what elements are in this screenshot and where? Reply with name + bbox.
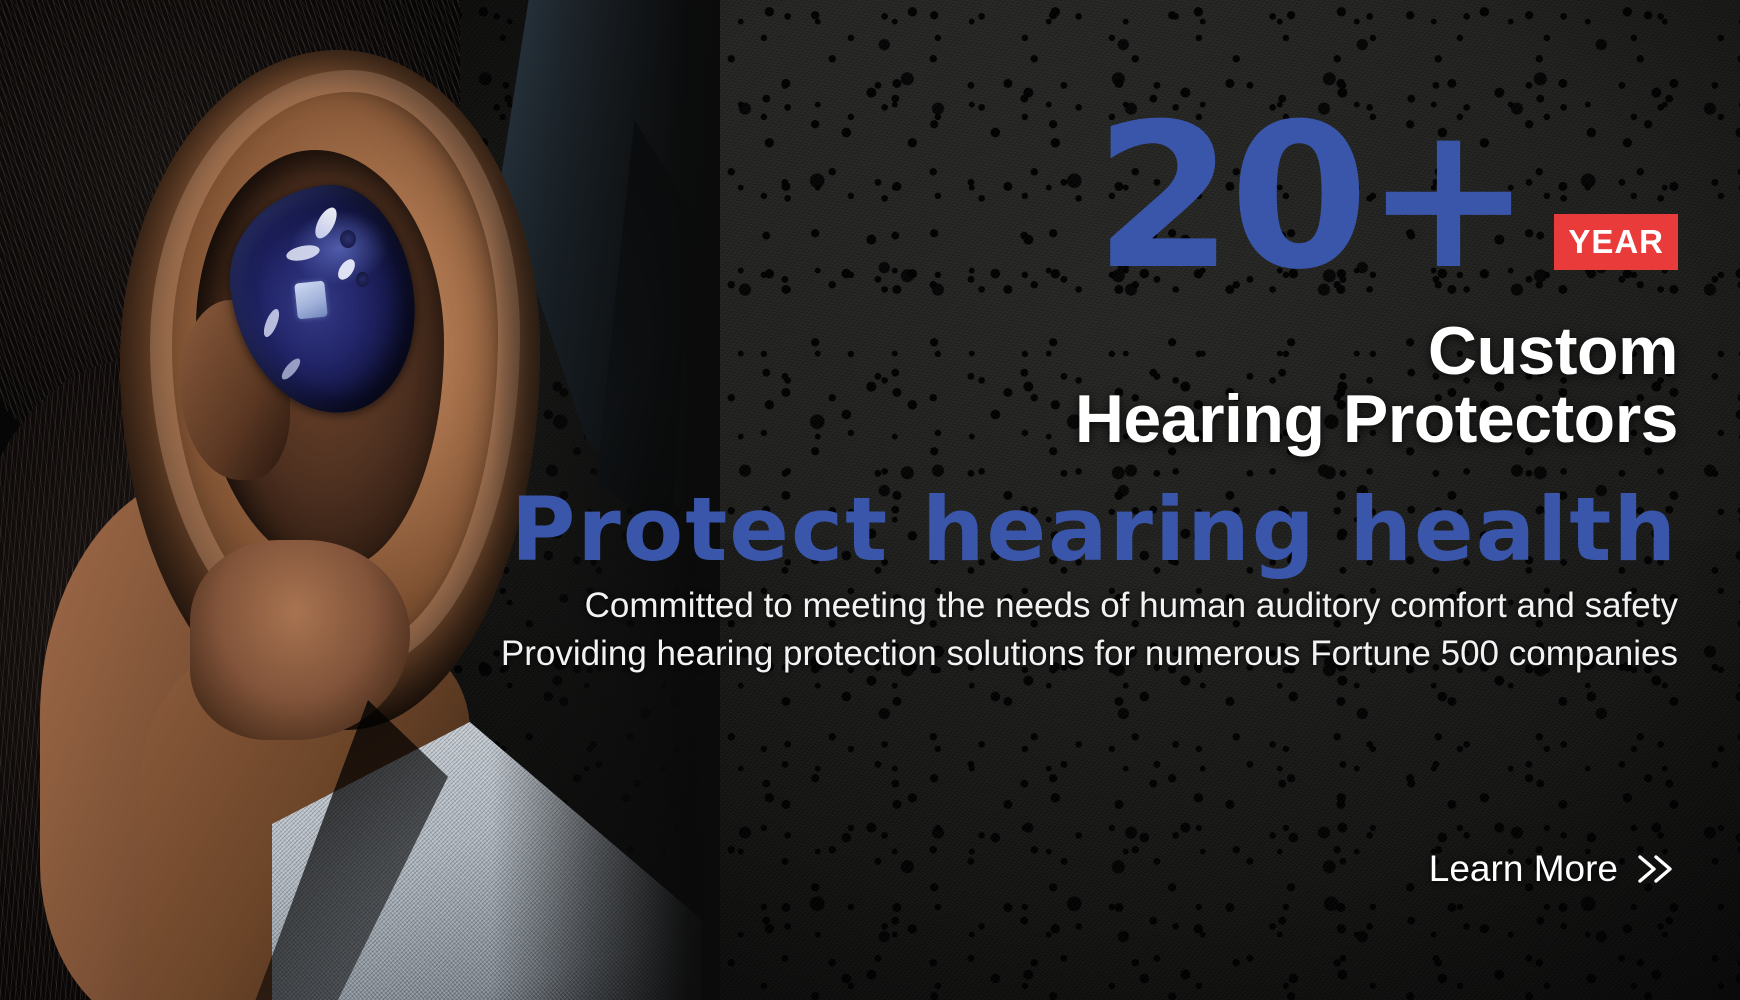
subtitle-line-2: Hearing Protectors: [1075, 380, 1678, 458]
body-line-2: Providing hearing protection solutions f…: [501, 634, 1678, 674]
double-chevron-right-icon: [1634, 852, 1678, 886]
stat-number: 20+: [1094, 112, 1528, 284]
subtitle-line-1: Custom: [1428, 312, 1678, 390]
banner-content: 20+ YEAR Custom Hearing Protectors Prote…: [0, 0, 1740, 1000]
learn-more-button[interactable]: Learn More: [1429, 848, 1678, 890]
year-badge: YEAR: [1554, 214, 1678, 270]
learn-more-label: Learn More: [1429, 848, 1618, 890]
body-line-1: Committed to meeting the needs of human …: [585, 586, 1678, 626]
experience-stat: 20+ YEAR: [1094, 112, 1678, 284]
hero-banner: 20+ YEAR Custom Hearing Protectors Prote…: [0, 0, 1740, 1000]
page-title: Protect hearing health: [511, 478, 1678, 581]
